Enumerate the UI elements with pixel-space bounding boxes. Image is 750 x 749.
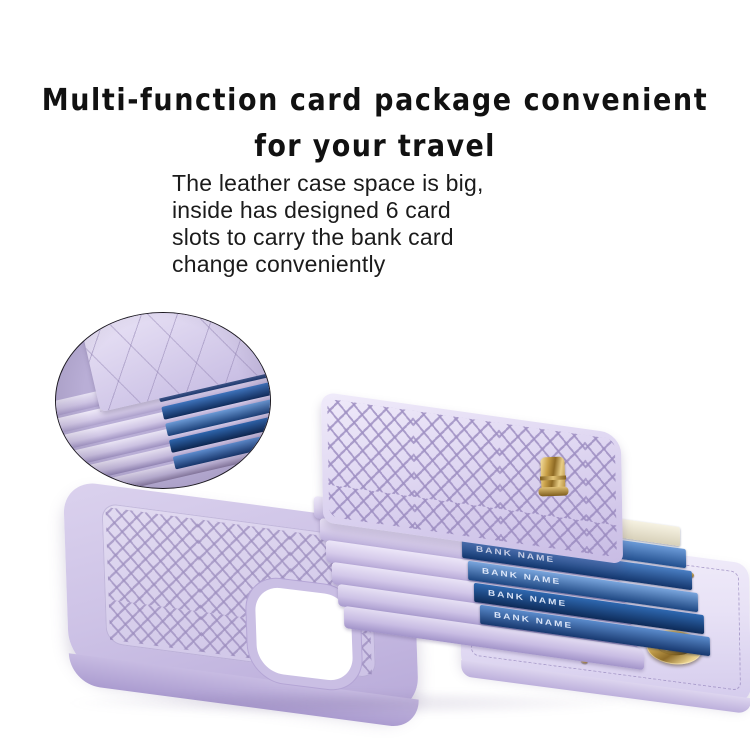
clasp-foot <box>538 486 568 496</box>
product-photo: BANK NAME BANK NAME BANK NAME BANK NAME … <box>60 415 750 735</box>
product-shadow <box>70 690 630 716</box>
headline-line-2: for your travel <box>0 124 750 170</box>
description-line-2: inside has designed 6 card <box>172 197 592 224</box>
description-line-4: change conveniently <box>172 251 592 278</box>
headline-line-1: Multi-function card package convenient <box>0 78 750 124</box>
product-feature-image: Multi-function card package convenient f… <box>0 0 750 749</box>
description-text: The leather case space is big, inside ha… <box>172 170 592 278</box>
description-line-3: slots to carry the bank card <box>172 224 592 251</box>
description-line-1: The leather case space is big, <box>172 170 592 197</box>
clasp-body <box>540 457 565 490</box>
page-title: Multi-function card package convenient f… <box>0 78 750 170</box>
clasp-icon <box>537 456 568 497</box>
